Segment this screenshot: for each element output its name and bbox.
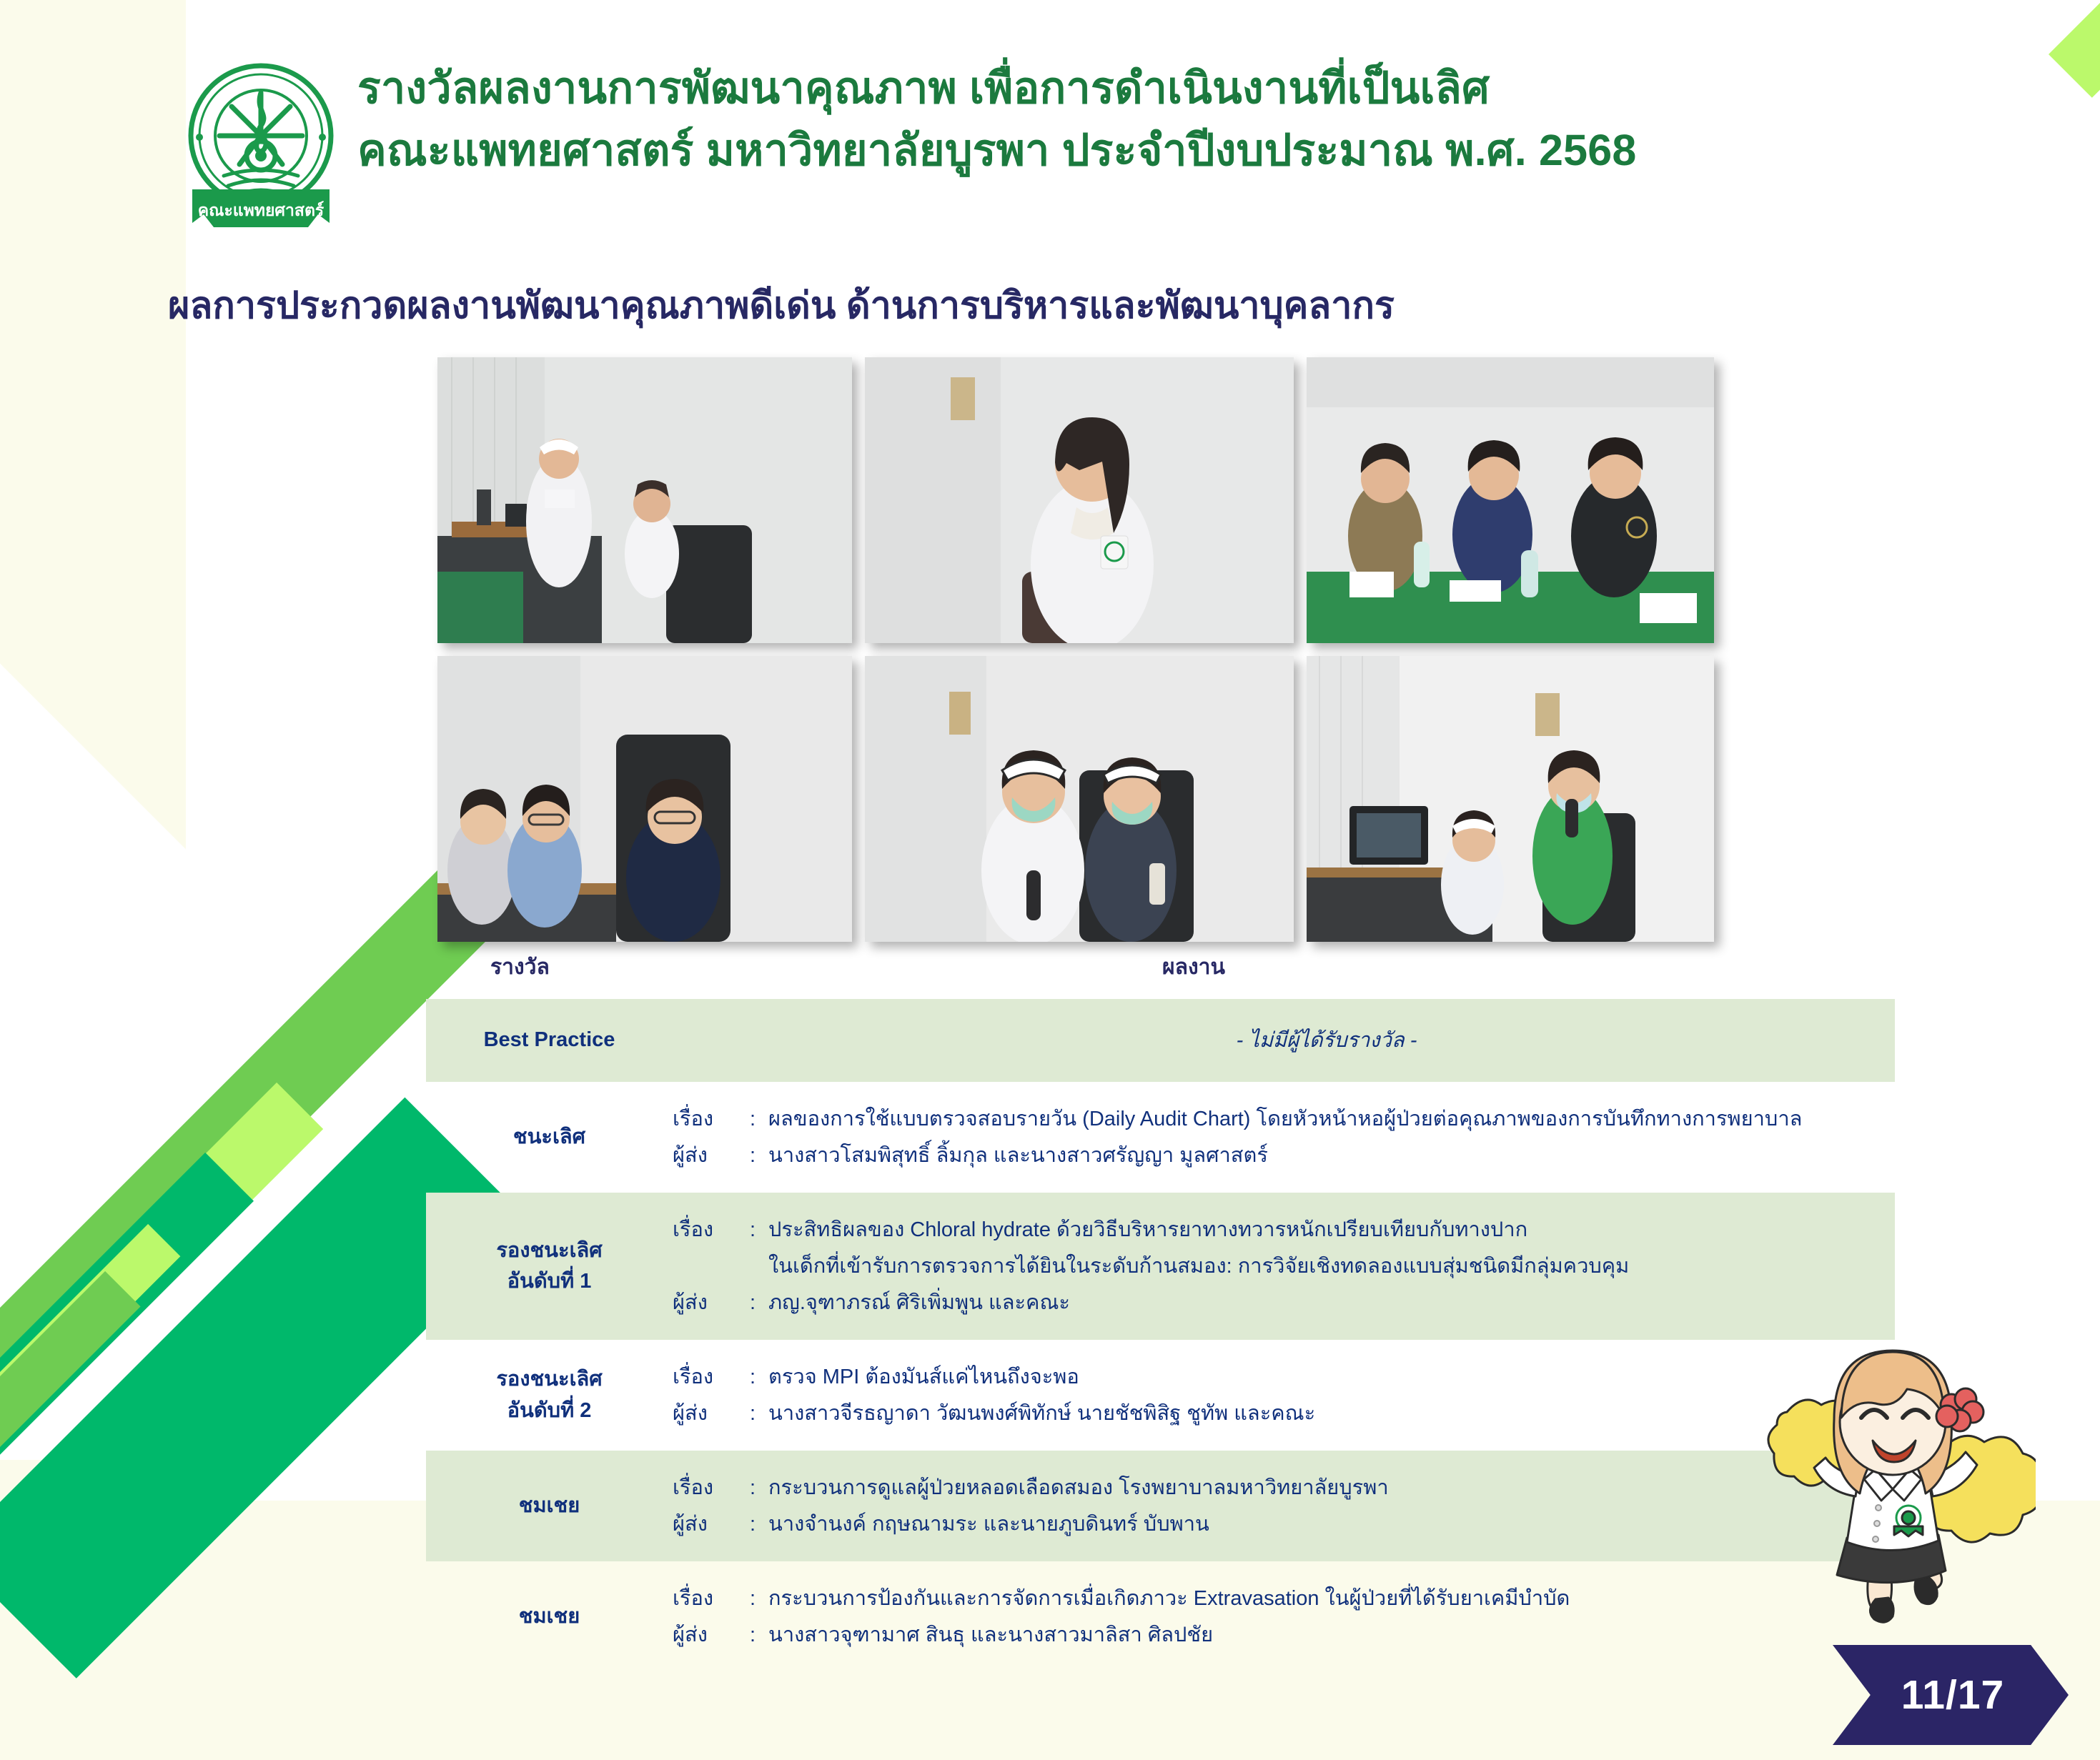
table-row: รองชนะเลิศ อันดับที่ 1 เรื่อง : ประสิทธิ… <box>426 1193 1895 1340</box>
sender-label: ผู้ส่ง <box>673 1509 750 1539</box>
work-topic-line: เรื่อง : กระบวนการป้องกันและการจัดการเมื… <box>673 1583 1895 1614</box>
table-row: รองชนะเลิศ อันดับที่ 2 เรื่อง : ตรวจ MPI… <box>426 1340 1895 1451</box>
work-sender-line: ผู้ส่ง : นางจำนงค์ กฤษณามระ และนายภูบดิน… <box>673 1509 1895 1539</box>
column-header-award: รางวัล <box>490 950 550 984</box>
topic-label: เรื่อง <box>673 1104 750 1134</box>
sender-label: ผู้ส่ง <box>673 1140 750 1170</box>
work-sender-line: ผู้ส่ง : นางสาวจุฑามาศ สินธุ และนางสาวมา… <box>673 1620 1895 1650</box>
award-rank-label: รองชนะเลิศ <box>433 1364 665 1396</box>
no-winner-text: - ไม่มีผู้ได้รับรางวัล - <box>673 1025 1895 1055</box>
sender-text: นางสาวจีรธญาดา วัฒนพงศ์พิทักษ์ นายชัชพิส… <box>768 1398 1895 1428</box>
work-sender-line: ผู้ส่ง : นางสาวโสมพิสุทธิ์ ลิ้มกุล และนา… <box>673 1140 1895 1170</box>
cheerleader-mascot-icon <box>1750 1343 2036 1644</box>
photo-4 <box>437 656 852 942</box>
award-rank-sublabel: อันดับที่ 1 <box>433 1266 665 1298</box>
table-row: ชนะเลิศ เรื่อง : ผลของการใช้แบบตรวจสอบรา… <box>426 1082 1895 1193</box>
topic-text: ผลของการใช้แบบตรวจสอบรายวัน (Daily Audit… <box>768 1104 1895 1134</box>
work-sender-line: ผู้ส่ง : นางสาวจีรธญาดา วัฒนพงศ์พิทักษ์ … <box>673 1398 1895 1428</box>
topic-label: เรื่อง <box>673 1473 750 1503</box>
topic-text: กระบวนการป้องกันและการจัดการเมื่อเกิดภาว… <box>768 1583 1895 1614</box>
sender-text: นางสาวโสมพิสุทธิ์ ลิ้มกุล และนางสาวศรัญญ… <box>768 1140 1895 1170</box>
work-cell: เรื่อง : ตรวจ MPI ต้องมันส์แค่ไหนถึงจะพอ… <box>673 1340 1895 1451</box>
work-topic-line: เรื่อง : กระบวนการดูแลผู้ป่วยหลอดเลือดสม… <box>673 1473 1895 1503</box>
svg-text:คณะแพทยศาสตร์: คณะแพทยศาสตร์ <box>198 201 325 220</box>
award-cell: ชมเชย <box>426 1601 673 1633</box>
work-cell: เรื่อง : ผลของการใช้แบบตรวจสอบรายวัน (Da… <box>673 1082 1895 1193</box>
table-row: ชมเชย เรื่อง : กระบวนการป้องกันและการจัด… <box>426 1561 1895 1672</box>
work-cell: เรื่อง : ประสิทธิผลของ Chloral hydrate ด… <box>673 1193 1895 1340</box>
photo-1 <box>437 357 852 643</box>
topic-continuation-text: ในเด็กที่เข้ารับการตรวจการได้ยินในระดับก… <box>768 1251 1895 1281</box>
photo-3 <box>1307 357 1714 643</box>
award-rank-sublabel: อันดับที่ 2 <box>433 1396 665 1427</box>
award-rank-label: รองชนะเลิศ <box>433 1236 665 1267</box>
page-number-label: 11/17 <box>1897 1671 2005 1719</box>
topic-colon: : <box>750 1473 768 1503</box>
title-line-2: คณะแพทยศาสตร์ มหาวิทยาลัยบูรพา ประจำปีงบ… <box>357 119 1787 182</box>
work-topic-continuation-line: ในเด็กที่เข้ารับการตรวจการได้ยินในระดับก… <box>673 1251 1895 1281</box>
photo-gallery <box>437 357 1717 949</box>
work-topic-line: เรื่อง : ประสิทธิผลของ Chloral hydrate ด… <box>673 1215 1895 1245</box>
burapha-university-logo: คณะแพทยศาสตร์ <box>175 57 347 239</box>
topic-text: กระบวนการดูแลผู้ป่วยหลอดเลือดสมอง โรงพยา… <box>768 1473 1895 1503</box>
topic-colon: : <box>750 1104 768 1134</box>
sender-label: ผู้ส่ง <box>673 1620 750 1650</box>
work-cell: เรื่อง : กระบวนการป้องกันและการจัดการเมื… <box>673 1561 1895 1672</box>
sender-colon: : <box>750 1398 768 1428</box>
slide-subtitle: ผลการประกวดผลงานพัฒนาคุณภาพดีเด่น ด้านกา… <box>168 275 1395 334</box>
topic-text: ประสิทธิผลของ Chloral hydrate ด้วยวิธีบร… <box>768 1215 1895 1245</box>
table-row: Best Practice - ไม่มีผู้ได้รับรางวัล - <box>426 999 1895 1082</box>
sender-colon: : <box>750 1509 768 1539</box>
topic-colon: : <box>750 1215 768 1245</box>
work-topic-line: เรื่อง : ผลของการใช้แบบตรวจสอบรายวัน (Da… <box>673 1104 1895 1134</box>
sender-text: ภญ.จุฑาภรณ์ ศิริเพิ่มพูน และคณะ <box>768 1288 1895 1318</box>
slide-header: รางวัลผลงานการพัฒนาคุณภาพ เพื่อการดำเนิน… <box>357 57 1787 181</box>
topic-label: เรื่อง <box>673 1583 750 1614</box>
results-table: Best Practice - ไม่มีผู้ได้รับรางวัล - ช… <box>426 999 1895 1673</box>
sender-colon: : <box>750 1288 768 1318</box>
topic-colon: : <box>750 1362 768 1392</box>
photo-6 <box>1307 656 1714 942</box>
work-sender-line: ผู้ส่ง : ภญ.จุฑาภรณ์ ศิริเพิ่มพูน และคณะ <box>673 1288 1895 1318</box>
award-cell: รองชนะเลิศ อันดับที่ 2 <box>426 1364 673 1426</box>
column-header-work: ผลงาน <box>1162 950 1225 984</box>
award-cell: Best Practice <box>426 1025 673 1056</box>
sender-text: นางจำนงค์ กฤษณามระ และนายภูบดินทร์ บับพา… <box>768 1509 1895 1539</box>
work-cell: - ไม่มีผู้ได้รับรางวัล - <box>673 1010 1895 1071</box>
topic-label: เรื่อง <box>673 1362 750 1392</box>
award-cell: รองชนะเลิศ อันดับที่ 1 <box>426 1236 673 1298</box>
photo-2 <box>865 357 1294 643</box>
sender-text: นางสาวจุฑามาศ สินธุ และนางสาวมาลิสา ศิลป… <box>768 1620 1895 1650</box>
title-line-1: รางวัลผลงานการพัฒนาคุณภาพ เพื่อการดำเนิน… <box>357 57 1787 119</box>
sender-colon: : <box>750 1140 768 1170</box>
table-column-headers: รางวัล ผลงาน <box>426 950 1713 993</box>
sender-label: ผู้ส่ง <box>673 1398 750 1428</box>
table-row: ชมเชย เรื่อง : กระบวนการดูแลผู้ป่วยหลอดเ… <box>426 1451 1895 1561</box>
award-cell: ชมเชย <box>426 1491 673 1522</box>
sender-colon: : <box>750 1620 768 1650</box>
topic-colon: : <box>750 1583 768 1614</box>
photo-5 <box>865 656 1294 942</box>
award-rank-label: ชนะเลิศ <box>433 1122 665 1153</box>
slide-canvas: คณะแพทยศาสตร์ รางวัลผลงานการพัฒนาคุณภาพ … <box>0 0 2100 1760</box>
topic-text: ตรวจ MPI ต้องมันส์แค่ไหนถึงจะพอ <box>768 1362 1895 1392</box>
topic-label: เรื่อง <box>673 1215 750 1245</box>
sender-label: ผู้ส่ง <box>673 1288 750 1318</box>
work-topic-line: เรื่อง : ตรวจ MPI ต้องมันส์แค่ไหนถึงจะพอ <box>673 1362 1895 1392</box>
award-cell: ชนะเลิศ <box>426 1122 673 1153</box>
work-cell: เรื่อง : กระบวนการดูแลผู้ป่วยหลอดเลือดสม… <box>673 1451 1895 1561</box>
